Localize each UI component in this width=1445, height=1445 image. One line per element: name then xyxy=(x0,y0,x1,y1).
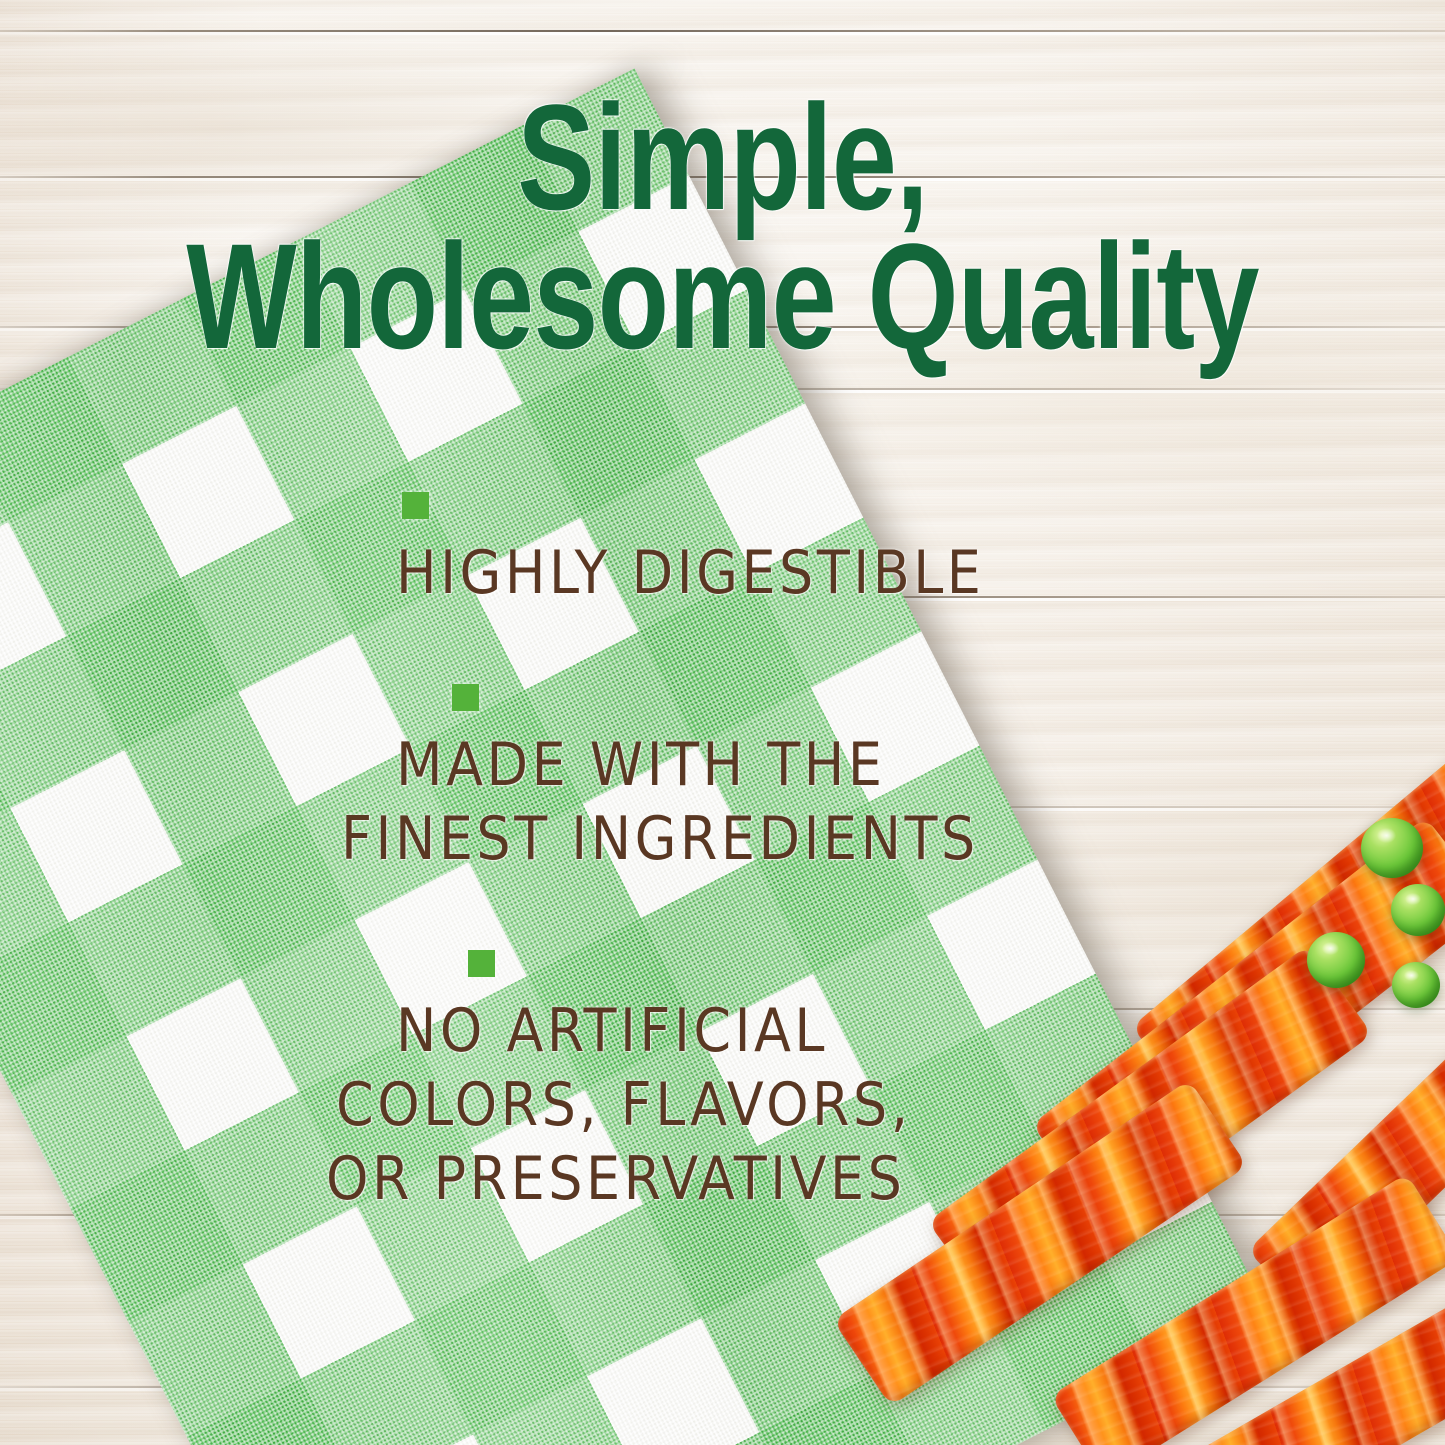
bullet-text: Made with the Finest Ingredients xyxy=(396,728,1136,876)
headline: Simple, Wholesome Quality xyxy=(0,92,1445,370)
headline-line-2: Wholesome Quality xyxy=(159,222,1286,370)
bullet-item-highly-digestible: Highly Digestible xyxy=(396,462,1136,610)
green-pea xyxy=(1391,884,1445,936)
bullet-text: No Artificial Colors, Flavors, or Preser… xyxy=(396,994,1136,1216)
headline-line-1: Simple, xyxy=(159,92,1286,222)
bullet-square-icon xyxy=(468,950,495,977)
feature-bullet-list: Highly Digestible Made with the Finest I… xyxy=(396,462,1136,1216)
bullet-square-icon xyxy=(452,684,479,711)
product-feature-poster: Simple, Wholesome Quality Highly Digesti… xyxy=(0,0,1445,1445)
bullet-item-no-artificial: No Artificial Colors, Flavors, or Preser… xyxy=(396,920,1136,1216)
green-pea xyxy=(1392,962,1440,1008)
green-pea xyxy=(1307,932,1365,988)
bullet-square-icon xyxy=(402,492,429,519)
bullet-text: Highly Digestible xyxy=(396,536,1136,610)
bullet-item-finest-ingredients: Made with the Finest Ingredients xyxy=(396,654,1136,876)
green-pea xyxy=(1361,818,1423,878)
